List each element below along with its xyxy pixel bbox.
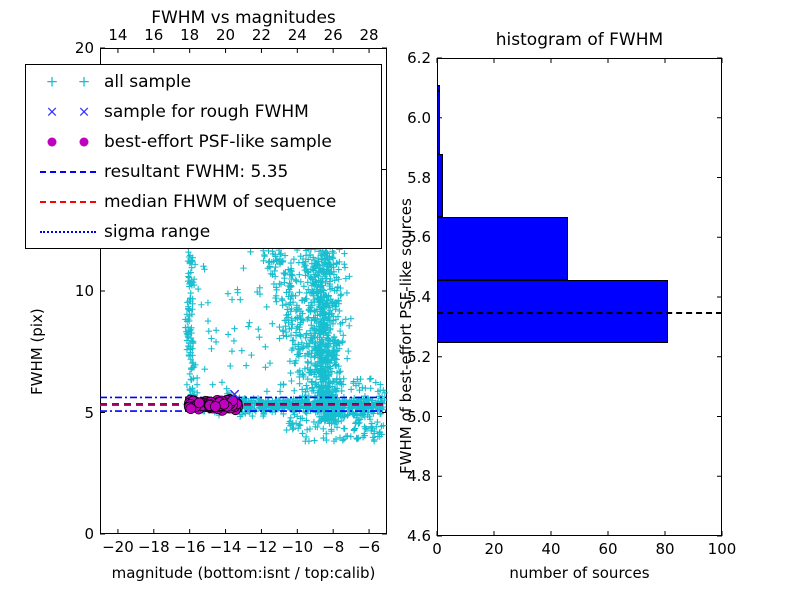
dashed-line-icon (32, 187, 104, 217)
legend-entry-5[interactable]: sigma range (32, 217, 375, 247)
scatter-y-tick-1: 5 (58, 406, 94, 421)
histogram-xlabel: number of sources (437, 566, 722, 581)
scatter-bottom-tick-0: −20 (101, 540, 135, 555)
histogram-ylabel: FWHM of best-effort PSF-like sources (399, 198, 414, 474)
histogram-y-tick-6: 5.8 (393, 171, 431, 186)
scatter-top-tick-6: 26 (321, 28, 345, 43)
scatter-bottom-tick-3: −14 (209, 540, 243, 555)
plus-icon: + (46, 75, 59, 90)
scatter-y-tick-0: 0 (58, 527, 94, 542)
cross-icon: × (46, 105, 59, 120)
legend-label: median FHWM of sequence (104, 194, 336, 211)
circle-icon (32, 127, 104, 157)
histogram-y-tick-8: 6.2 (393, 51, 431, 66)
cross-icon: ×× (32, 97, 104, 127)
circle-icon (80, 138, 89, 147)
plus-icon: ++ (32, 67, 104, 97)
legend-label: sample for rough FWHM (104, 104, 309, 121)
legend-entry-2[interactable]: best-effort PSF-like sample (32, 127, 375, 157)
circle-icon (48, 138, 57, 147)
histogram-y-tick-7: 6.0 (393, 111, 431, 126)
scatter-plot-title: FWHM vs magnitudes (100, 10, 387, 27)
scatter-top-tick-1: 16 (142, 28, 166, 43)
legend-entry-0[interactable]: ++all sample (32, 67, 375, 97)
scatter-y-tick-2: 10 (58, 284, 94, 299)
scatter-bottom-tick-5: −10 (280, 540, 314, 555)
scatter-ylabel: FWHM (pix) (30, 308, 45, 395)
legend-label: best-effort PSF-like sample (104, 134, 332, 151)
dashdot-line-icon (32, 217, 104, 247)
histogram-x-tick-0: 0 (420, 542, 454, 557)
scatter-top-tick-0: 14 (106, 28, 130, 43)
scatter-bottom-tick-4: −12 (244, 540, 278, 555)
scatter-xlabel: magnitude (bottom:isnt / top:calib) (100, 566, 387, 581)
scatter-top-tick-7: 28 (357, 28, 381, 43)
dashed-line-icon (40, 201, 96, 203)
histogram-x-tick-3: 60 (591, 542, 625, 557)
legend-entry-4[interactable]: median FHWM of sequence (32, 187, 375, 217)
figure-canvas: FWHM vs magnitudes 1416182022242628 −20−… (0, 0, 800, 600)
scatter-bottom-tick-2: −16 (173, 540, 207, 555)
legend-label: resultant FWHM: 5.35 (104, 164, 288, 181)
histogram-title: histogram of FWHM (437, 32, 722, 49)
scatter-bottom-tick-6: −8 (316, 540, 350, 555)
scatter-top-tick-3: 20 (214, 28, 238, 43)
histogram-x-tick-2: 40 (534, 542, 568, 557)
dashdot-line-icon (40, 231, 96, 233)
cross-icon: × (78, 105, 91, 120)
scatter-bottom-tick-7: −6 (352, 540, 386, 555)
scatter-top-tick-4: 22 (249, 28, 273, 43)
legend-label: sigma range (104, 224, 210, 241)
scatter-y-tick-3: 20 (58, 41, 94, 56)
histogram-bar (437, 91, 440, 154)
histogram-bar (437, 154, 443, 217)
histogram-median-line (437, 312, 722, 314)
histogram-x-tick-4: 80 (648, 542, 682, 557)
scatter-top-tick-2: 18 (178, 28, 202, 43)
dashed-line-icon (40, 171, 96, 173)
scatter-top-tick-5: 24 (285, 28, 309, 43)
legend-label: all sample (104, 74, 191, 91)
plus-icon: + (78, 75, 91, 90)
scatter-bottom-tick-1: −18 (137, 540, 171, 555)
histogram-bar (437, 217, 568, 280)
legend-entry-1[interactable]: ××sample for rough FWHM (32, 97, 375, 127)
legend-entry-3[interactable]: resultant FWHM: 5.35 (32, 157, 375, 187)
plot-legend[interactable]: ++all sample××sample for rough FWHMbest-… (25, 64, 382, 249)
histogram-bar (437, 85, 440, 91)
histogram-x-tick-5: 100 (705, 542, 739, 557)
dashed-line-icon (32, 157, 104, 187)
histogram-x-tick-1: 20 (477, 542, 511, 557)
